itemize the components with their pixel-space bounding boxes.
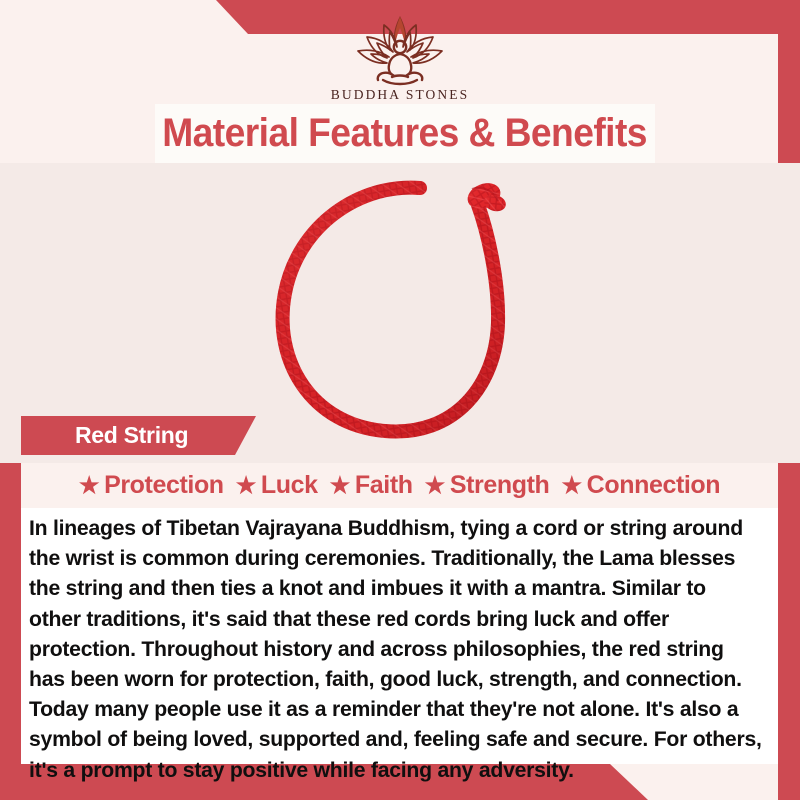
page-title: Material Features & Benefits <box>163 111 648 156</box>
brand-logo: BUDDHA STONES <box>0 12 800 103</box>
benefit-item-connection: ★ Connection <box>557 471 724 500</box>
star-icon: ★ <box>425 474 445 497</box>
benefit-label: Faith <box>355 471 413 500</box>
star-icon: ★ <box>236 474 256 497</box>
benefit-item-strength: ★ Strength <box>421 471 554 500</box>
product-name-label: Red String <box>75 422 188 449</box>
brand-name: BUDDHA STONES <box>0 87 800 103</box>
star-icon: ★ <box>330 474 350 497</box>
benefit-label: Connection <box>587 471 721 500</box>
star-icon: ★ <box>561 474 581 497</box>
star-icon: ★ <box>79 474 99 497</box>
description-text: In lineages of Tibetan Vajrayana Buddhis… <box>29 514 762 786</box>
lotus-meditation-logo-icon <box>336 12 464 86</box>
product-name-banner: Red String <box>21 416 256 455</box>
red-braided-string-bracelet-icon <box>250 163 550 453</box>
description-panel: In lineages of Tibetan Vajrayana Buddhis… <box>21 508 778 764</box>
benefits-list: ★ Protection ★ Luck ★ Faith ★ Strength ★… <box>21 463 778 508</box>
benefit-item-luck: ★ Luck <box>232 471 322 500</box>
benefit-label: Strength <box>450 471 550 500</box>
title-band: Material Features & Benefits <box>155 104 655 163</box>
benefit-label: Luck <box>261 471 318 500</box>
infographic-page: BUDDHA STONES Material Features & Benefi… <box>0 0 800 800</box>
benefit-item-faith: ★ Faith <box>326 471 417 500</box>
benefit-label: Protection <box>104 471 224 500</box>
benefit-item-protection: ★ Protection <box>75 471 228 500</box>
